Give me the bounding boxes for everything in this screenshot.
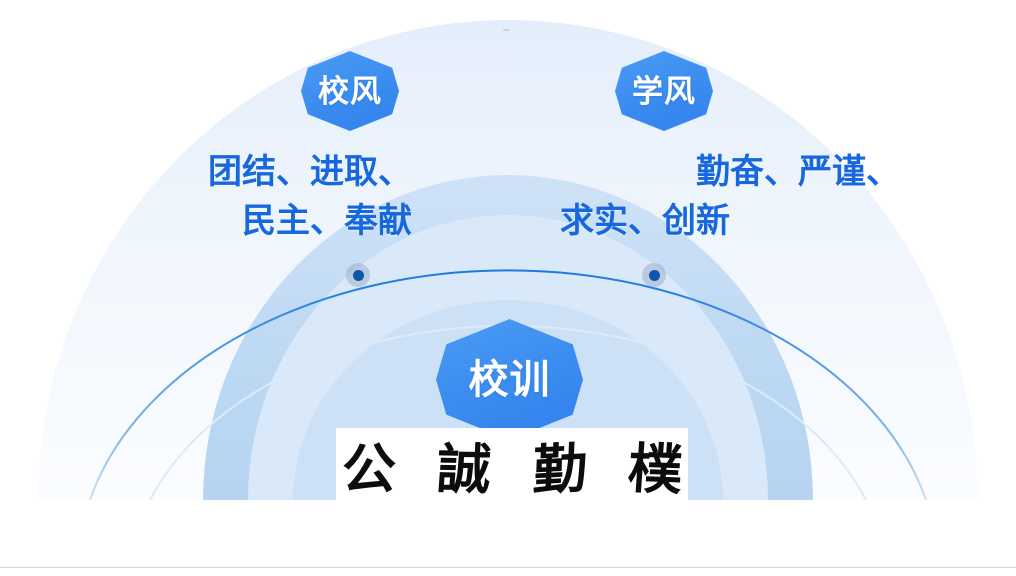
bottom-divider (0, 567, 1016, 568)
calligraphy-glyph: 樸 (626, 441, 684, 497)
motto-left-block: 团结、进取、 民主、奉献 (122, 148, 412, 247)
apex-speck (503, 29, 510, 31)
slide-canvas: 校风 学风 校训 团结、进取、 民主、奉献 勤奋、严谨、 求实、创新 公 誠 勤… (0, 0, 1016, 576)
motto-left-line1: 团结、进取、 (122, 148, 412, 197)
badge-study-ethos[interactable]: 学风 (615, 51, 713, 131)
badge-school-motto[interactable]: 校训 (436, 319, 583, 440)
badge-school-motto-label: 校训 (469, 360, 551, 400)
calligraphy-glyph: 誠 (435, 442, 493, 497)
calligraphy-motto: 公 誠 勤 樸 (336, 428, 688, 510)
badge-study-ethos-label: 学风 (632, 76, 696, 107)
calligraphy-glyph: 公 (341, 441, 397, 497)
node-dot-left (346, 263, 370, 287)
node-dot-right (642, 263, 666, 287)
motto-right-line1: 勤奋、严谨、 (560, 148, 900, 197)
calligraphy-glyph: 勤 (532, 441, 588, 498)
motto-right-line2: 求实、创新 (560, 197, 900, 246)
badge-school-ethos-label: 校风 (318, 76, 382, 107)
motto-left-line2: 民主、奉献 (122, 197, 412, 246)
badge-school-ethos[interactable]: 校风 (301, 51, 399, 131)
motto-right-block: 勤奋、严谨、 求实、创新 (560, 148, 900, 247)
